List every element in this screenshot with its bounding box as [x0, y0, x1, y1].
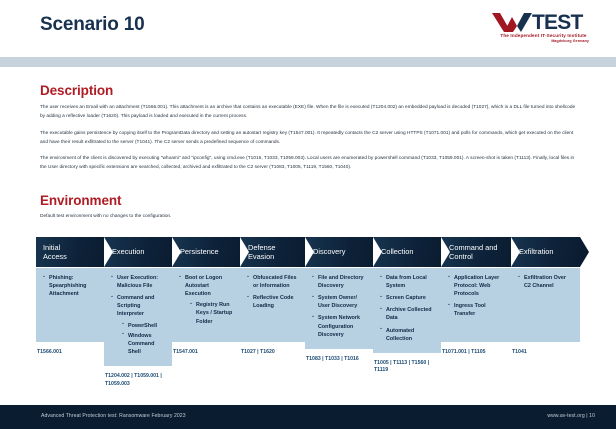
sub-technique-item: Windows Command Shell — [122, 332, 166, 356]
tactic-column-title: Execution — [112, 247, 144, 256]
footer-test-name: Advanced Threat Protection test: Ransomw… — [41, 413, 186, 419]
tactic-column-title: Discovery — [313, 247, 345, 256]
sub-technique-list: Registry Run Keys / Startup Folder — [190, 301, 234, 325]
section-heading-description: Description — [40, 83, 576, 98]
tactic-column[interactable]: PersistenceBoot or Logon Autostart Execu… — [172, 237, 240, 388]
technique-item: Ingress Tool Transfer — [448, 302, 505, 318]
logo-wordmark: TEST — [532, 12, 582, 33]
tactic-column-header: DefenseEvasion — [240, 237, 305, 267]
technique-list: User Execution: Malicious FileCommand an… — [111, 274, 166, 356]
page-title: Scenario 10 — [40, 14, 144, 36]
tactic-column-body: Phishing: Spearphishing Attachment — [36, 268, 104, 342]
chevron-notch-icon — [104, 237, 113, 267]
tactic-column[interactable]: CollectionData from Local SystemScreen C… — [373, 237, 441, 388]
tactic-column-body: Boot or Logon Autostart ExecutionRegistr… — [172, 268, 240, 342]
technique-item: Exfiltration Over C2 Channel — [518, 274, 574, 290]
chevron-notch-icon — [441, 237, 450, 267]
tactic-column[interactable]: ExfiltrationExfiltration Over C2 Channel… — [511, 237, 580, 388]
technique-list: File and Directory DiscoverySystem Owner… — [312, 274, 367, 339]
tactic-column[interactable]: DiscoveryFile and Directory DiscoverySys… — [305, 237, 373, 388]
technique-list: Boot or Logon Autostart ExecutionRegistr… — [179, 274, 234, 326]
technique-item: Screen Capture — [380, 294, 435, 302]
tactic-column-body: Exfiltration Over C2 Channel — [511, 268, 580, 342]
tactic-column-title: Exfiltration — [519, 247, 554, 256]
tactic-column-body: Obfuscated Files or InformationReflectiv… — [240, 268, 305, 342]
tactic-column-body: File and Directory DiscoverySystem Owner… — [305, 268, 373, 349]
technique-item: Application Layer Protocol: Web Protocol… — [448, 274, 505, 298]
technique-item: Data from Local System — [380, 274, 435, 290]
slide-footer: Advanced Threat Protection test: Ransomw… — [0, 405, 616, 429]
chevron-right-icon — [580, 237, 589, 267]
technique-ids: T1204.002 | T1059.001 | T1059.003 — [104, 373, 172, 388]
tactic-column[interactable]: DefenseEvasionObfuscated Files or Inform… — [240, 237, 305, 388]
chevron-notch-icon — [240, 237, 249, 267]
tactic-column-header: Collection — [373, 237, 441, 267]
technique-ids: T1041 — [511, 349, 580, 357]
technique-list: Application Layer Protocol: Web Protocol… — [448, 274, 505, 319]
technique-ids: T1083 | T1033 | T1016 — [305, 356, 373, 364]
technique-ids: T1005 | T1113 | T1560 | T1119 — [373, 360, 441, 375]
chevron-notch-icon — [511, 237, 520, 267]
sub-technique-list: PowerShellWindows Command Shell — [122, 322, 166, 356]
technique-ids: T1071.001 | T1105 — [441, 349, 511, 357]
sub-technique-item: PowerShell — [122, 322, 166, 330]
slide-header: Scenario 10 TEST The Independent IT-Secu… — [0, 0, 616, 57]
tactic-column[interactable]: ExecutionUser Execution: Malicious FileC… — [104, 237, 172, 388]
slide-page: Scenario 10 TEST The Independent IT-Secu… — [0, 0, 616, 429]
technique-item: Boot or Logon Autostart ExecutionRegistr… — [179, 274, 234, 326]
tactic-column-title: Command andControl — [449, 243, 497, 262]
section-environment: Environment Default test environment wit… — [40, 193, 576, 221]
technique-list: Exfiltration Over C2 Channel — [518, 274, 574, 290]
tactic-column-body: User Execution: Malicious FileCommand an… — [104, 268, 172, 366]
footer-url-page: www.av-test.org | 10 — [547, 413, 595, 419]
logo-tagline-institute: The Independent IT-Security Institute — [492, 33, 595, 38]
technique-item: Reflective Code Loading — [247, 294, 299, 310]
slide-content: Description The user receives an Email w… — [0, 83, 616, 252]
technique-item: System Network Configuration Discovery — [312, 314, 367, 338]
technique-ids: T1566.001 — [36, 349, 104, 357]
tactic-column-body: Data from Local SystemScreen CaptureArch… — [373, 268, 441, 353]
av-test-logo: TEST The Independent IT-Security Institu… — [491, 12, 595, 46]
technique-list: Obfuscated Files or InformationReflectiv… — [247, 274, 299, 310]
description-paragraph-1: The user receives an Email with an attac… — [40, 103, 576, 122]
technique-item: Archive Collected Data — [380, 306, 435, 322]
tactic-column-body: Application Layer Protocol: Web Protocol… — [441, 268, 511, 342]
tactic-column-title: DefenseEvasion — [248, 243, 276, 262]
tactics-matrix: InitialAccessPhishing: Spearphishing Att… — [36, 237, 580, 388]
chevron-notch-icon — [373, 237, 382, 267]
tactic-column-header: Discovery — [305, 237, 373, 267]
tactic-column-header: InitialAccess — [36, 237, 104, 267]
description-paragraph-3: The environment of the client is discove… — [40, 154, 576, 173]
technique-item: File and Directory Discovery — [312, 274, 367, 290]
technique-item: Command and Scripting InterpreterPowerSh… — [111, 294, 166, 356]
technique-item: User Execution: Malicious File — [111, 274, 166, 290]
technique-ids: T1027 | T1620 — [240, 349, 305, 357]
tactic-column-title: Collection — [381, 247, 413, 256]
tactic-column-title: InitialAccess — [43, 243, 67, 262]
technique-item: Automated Collection — [380, 327, 435, 343]
tactic-column-header: Command andControl — [441, 237, 511, 267]
sub-technique-item: Registry Run Keys / Startup Folder — [190, 301, 234, 325]
environment-paragraph-1: Default test environment with no changes… — [40, 212, 576, 221]
description-paragraph-2: The executable gains persistence by copy… — [40, 129, 576, 148]
section-description: Description The user receives an Email w… — [40, 83, 576, 173]
logo-tagline-location: Magdeburg Germany — [492, 39, 595, 43]
chevron-notch-icon — [172, 237, 181, 267]
tactic-column-header: Persistence — [172, 237, 240, 267]
tactic-column-header: Exfiltration — [511, 237, 580, 267]
technique-list: Data from Local SystemScreen CaptureArch… — [380, 274, 435, 343]
chevron-notch-icon — [305, 237, 314, 267]
technique-item: Obfuscated Files or Information — [247, 274, 299, 290]
technique-item: System Owner/ User Discovery — [312, 294, 367, 310]
tactic-column-title: Persistence — [180, 247, 219, 256]
header-divider — [0, 57, 616, 67]
tactic-column[interactable]: InitialAccessPhishing: Spearphishing Att… — [36, 237, 104, 388]
technique-list: Phishing: Spearphishing Attachment — [43, 274, 98, 298]
technique-item: Phishing: Spearphishing Attachment — [43, 274, 98, 298]
section-heading-environment: Environment — [40, 193, 576, 208]
technique-ids: T1547.001 — [172, 349, 240, 357]
tactic-column[interactable]: Command andControlApplication Layer Prot… — [441, 237, 511, 388]
tactic-column-chain: InitialAccessPhishing: Spearphishing Att… — [36, 237, 580, 388]
tactic-column-header: Execution — [104, 237, 172, 267]
